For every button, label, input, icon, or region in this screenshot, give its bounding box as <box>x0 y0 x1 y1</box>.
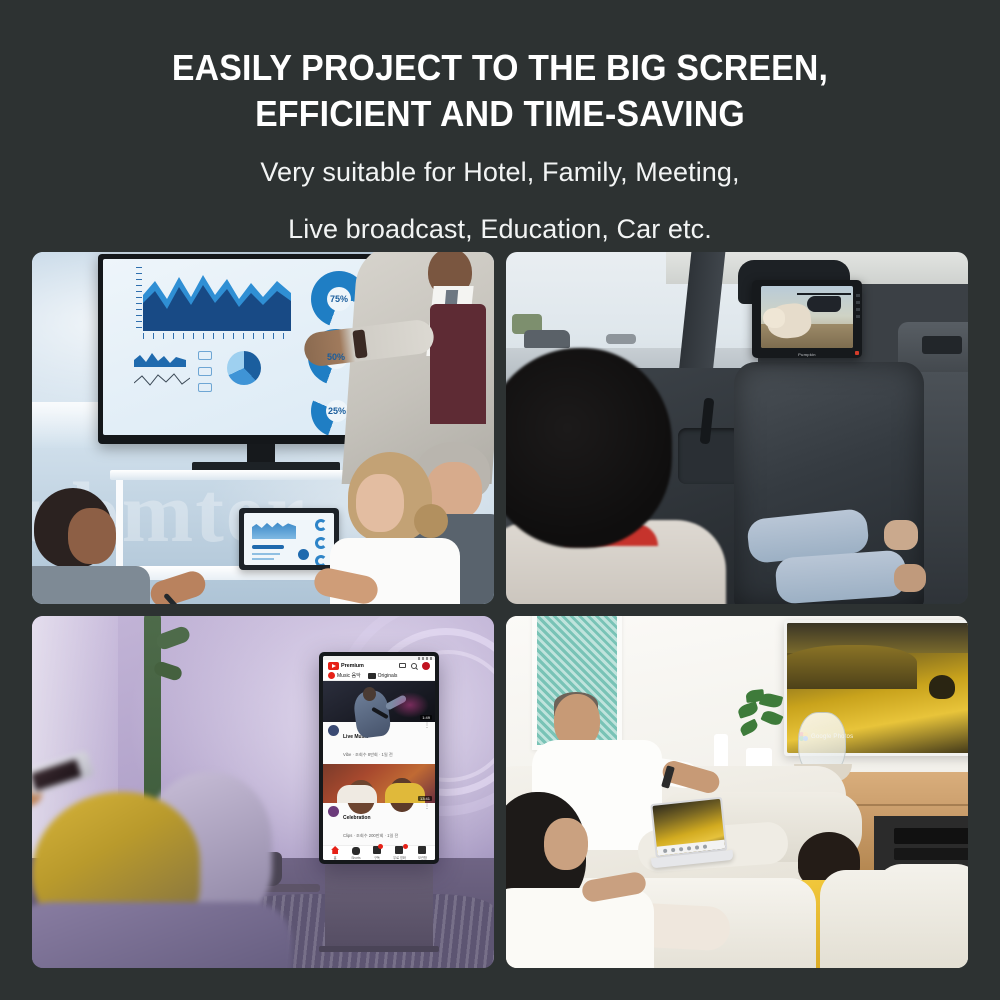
presenter-vest <box>430 304 486 424</box>
laptop-screen <box>652 799 725 856</box>
player-brand-label: Pumpkin <box>798 352 816 357</box>
line-chart <box>134 371 190 389</box>
chip-music[interactable]: Music 음악 <box>328 672 361 679</box>
photo-vertical-tv: Premium Music 음악 <box>32 616 494 968</box>
player-screen <box>761 286 853 348</box>
cast-icon[interactable] <box>399 663 406 668</box>
subtitle-line-2: Live broadcast, Education, Car etc. <box>0 210 1000 249</box>
originals-icon <box>368 673 376 679</box>
tablet-line-1 <box>252 553 280 555</box>
media-player-box <box>894 848 968 860</box>
chart-y-axis <box>136 267 142 333</box>
nav-shorts-label: Shorts <box>351 856 360 860</box>
headline-block: EASILY PROJECT TO THE BIG SCREEN, EFFICI… <box>0 0 1000 249</box>
channel-avatar-1 <box>328 725 339 736</box>
nav-library-label: 보관함 <box>418 855 427 860</box>
play-icon <box>328 662 339 670</box>
tablet-pie <box>298 549 309 560</box>
child-head-foreground <box>506 348 672 548</box>
video-duration-1: 1:49 <box>420 715 432 720</box>
subtitle-line-1: Very suitable for Hotel, Family, Meeting… <box>0 153 1000 192</box>
nav-subscriptions-label: 구독 <box>374 855 380 860</box>
chip-originals-label: Originals <box>378 673 398 679</box>
photo-hillside <box>787 645 917 689</box>
nav-home-label: 홈 <box>334 855 337 860</box>
photo-car-backseat: Pumpkin <box>506 252 968 604</box>
player-buttons[interactable] <box>856 294 860 320</box>
overflow-menu-icon-1[interactable]: ⋮ <box>424 725 430 729</box>
av-receiver <box>894 828 968 844</box>
nav-free-movies-label: 무료 영화 <box>393 855 406 860</box>
tablet-screen <box>244 513 334 565</box>
headline-line-1: EASILY PROJECT TO THE BIG SCREEN, <box>30 45 970 91</box>
sparkline-chart <box>134 351 186 367</box>
headline-line-2: EFFICIENT AND TIME-SAVING <box>30 91 970 137</box>
shorts-icon <box>352 847 360 855</box>
tv-stand <box>325 864 433 950</box>
channel-avatar-2 <box>328 806 339 817</box>
video-duration-2: 13:41 <box>418 796 432 801</box>
portable-player: Pumpkin <box>752 280 862 358</box>
sofa-seat-right <box>820 870 968 968</box>
video-thumbnail-1[interactable]: 1:49 <box>323 681 435 722</box>
promo-banner: EASILY PROJECT TO THE BIG SCREEN, EFFICI… <box>0 0 1000 1000</box>
youtube-app: Premium Music 음악 <box>323 656 435 860</box>
tablet-bar <box>252 545 284 549</box>
video-subtitle-2: Clips · 조회수 200만회 · 1일 전 <box>343 833 398 838</box>
photo-living-room: Google Photos <box>506 616 968 968</box>
gauge-75: 75% <box>311 271 367 327</box>
child-legs <box>742 502 914 604</box>
photo-meeting-room: ubmter <box>32 252 494 604</box>
nav-library[interactable]: 보관함 <box>418 846 427 860</box>
library-icon <box>418 846 426 854</box>
home-icon <box>331 846 339 854</box>
video-thumbnail-2[interactable]: 13:41 <box>323 764 435 803</box>
viewer-foreground <box>32 766 302 968</box>
tablet-area-chart <box>252 519 296 539</box>
nav-free-movies[interactable]: 무료 영화 <box>393 846 406 860</box>
area-chart <box>143 269 291 331</box>
tablet-gauge-3 <box>315 555 327 565</box>
movie-helicopter <box>807 296 841 312</box>
pie-chart <box>227 351 261 385</box>
laptop-lid <box>650 797 727 858</box>
photo-tree <box>929 675 955 699</box>
photo-grid: ubmter <box>32 252 968 968</box>
nav-shorts[interactable]: Shorts <box>351 847 360 860</box>
tablet-gauge-1 <box>315 519 327 531</box>
music-icon <box>328 672 335 679</box>
tv-stand-neck <box>247 444 275 464</box>
video-subtitle-1: Vibe · 조회수 8만회 · 1일 전 <box>343 752 393 757</box>
power-led-icon <box>855 351 859 355</box>
potted-plant <box>738 690 782 752</box>
air-vent <box>922 336 962 354</box>
tablet-gauge-2 <box>315 537 327 549</box>
chart-x-axis <box>143 333 291 339</box>
gauge-25: 25% <box>311 385 363 435</box>
gauge-25-label: 25% <box>311 385 363 435</box>
youtube-premium-label: Premium <box>341 663 364 669</box>
vehicle-icons <box>198 351 214 399</box>
category-chips: Music 음악 Originals <box>323 672 435 681</box>
bottom-nav-bar: 홈 Shorts 구독 <box>323 845 435 860</box>
viewer-body <box>32 902 292 968</box>
nav-home[interactable]: 홈 <box>331 846 339 860</box>
chip-originals[interactable]: Originals <box>368 673 398 679</box>
notification-badge-icon <box>378 844 383 849</box>
attendee-left <box>32 482 146 604</box>
gauge-50: 50% <box>308 329 364 385</box>
youtube-top-bar: Premium <box>323 660 435 672</box>
car-outside-1 <box>524 330 570 348</box>
nav-subscriptions[interactable]: 구독 <box>373 846 381 860</box>
tablet-line-2 <box>252 558 274 560</box>
car-outside-2 <box>606 334 636 344</box>
video-meta-2[interactable]: Celebration Clips · 조회수 200만회 · 1일 전 ⋮ <box>323 803 435 845</box>
top-bar-actions <box>399 662 430 670</box>
overflow-menu-icon-2[interactable]: ⋮ <box>424 806 430 810</box>
video-title-2: Celebration <box>343 815 371 821</box>
gauge-75-label: 75% <box>311 271 367 327</box>
youtube-logo[interactable]: Premium <box>328 662 364 670</box>
laptop <box>650 796 734 880</box>
chip-music-label: Music 음악 <box>337 672 361 679</box>
avatar[interactable] <box>422 662 430 670</box>
movie-dog-head <box>763 308 785 328</box>
movies-badge-icon <box>403 844 408 849</box>
vertical-tv: Premium Music 음악 <box>319 652 439 864</box>
gauge-50-label: 50% <box>308 329 364 385</box>
tablet-device <box>239 508 339 570</box>
search-icon[interactable] <box>411 663 417 669</box>
tv-foot <box>319 946 439 952</box>
